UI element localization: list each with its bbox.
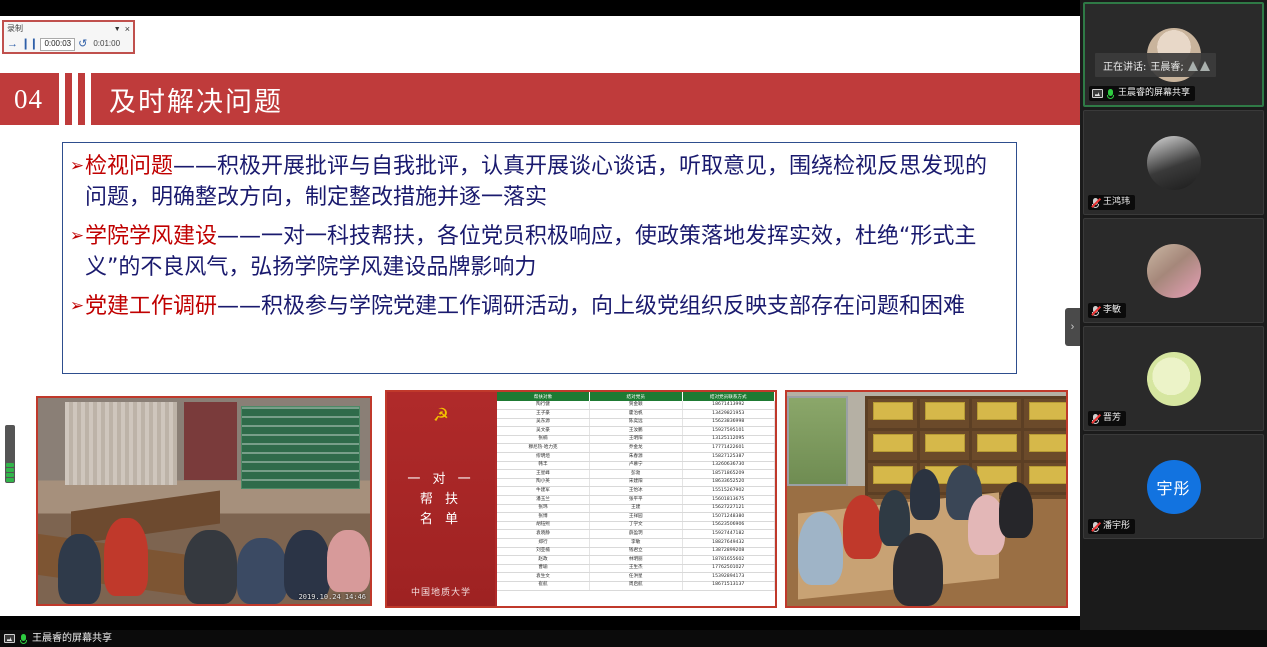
bullet-text: 检视问题——积极开展批评与自我批评，认真开展谈心谈话，听取意见，围绕检视反思发现… — [85, 151, 1006, 213]
table-row: 缪明煊朱春源15827125387 — [497, 453, 775, 462]
table-cell: 王祥园 — [590, 513, 683, 522]
level-segment — [6, 443, 14, 447]
table-cell: 穆尼热·哈力克 — [497, 444, 590, 453]
recording-total-time: 0:01:00 — [90, 39, 123, 50]
screen-share-status-text: 王晨睿的屏幕共享 — [32, 630, 112, 647]
mic-muted-icon — [1091, 413, 1100, 425]
bullet-keyword: 学院学风建设 — [85, 224, 217, 249]
avatar — [1147, 136, 1201, 190]
photo-timestamp: 2019.10.24 14:46 — [299, 593, 366, 601]
level-segment — [6, 463, 14, 467]
active-speaker-name: 王晨睿; — [1150, 58, 1183, 73]
level-segment — [6, 448, 14, 452]
participant-rail: 王晨睿的屏幕共享王鸿玮李敏晋芳宇彤潘宇彤 — [1080, 0, 1267, 630]
level-segment — [6, 458, 14, 462]
table-cell: 曹瑜 — [497, 564, 590, 573]
level-segment — [6, 433, 14, 437]
table-cell: 15927447182 — [682, 530, 775, 539]
pairing-list-title: 一 对 一 帮 扶 名 单 — [387, 470, 495, 530]
mic-muted-icon — [1091, 305, 1100, 317]
collapse-panel-button[interactable]: › — [1065, 308, 1080, 346]
close-icon[interactable]: × — [125, 24, 130, 34]
table-cell: 王建 — [590, 504, 683, 513]
table-row: 张博王祥园15071248380 — [497, 513, 775, 522]
table-cell: 彭勃 — [590, 470, 683, 479]
photo-person — [104, 518, 147, 596]
classroom-meeting-photo: 2019.10.24 14:46 — [36, 396, 372, 606]
level-segment — [6, 478, 14, 482]
bullet-arrow-icon: ➢ — [69, 151, 85, 213]
bullet-text: 学院学风建设——一对一科技帮扶，各位党员积极响应，使政策落地发挥实效，杜绝“形式… — [85, 221, 1006, 283]
participant-name: 晋芳 — [1103, 412, 1121, 425]
table-header-cell: 结对党员联系方式 — [682, 392, 775, 401]
table-cell: 张平平 — [590, 496, 683, 505]
photo-person — [237, 538, 287, 604]
table-cell: 朱春源 — [590, 453, 683, 462]
mic-muted-icon — [1091, 521, 1100, 533]
table-cell: 15071248380 — [682, 513, 775, 522]
resume-arrow-icon[interactable]: → — [7, 39, 18, 50]
table-row: 郑行李敏18827649432 — [497, 539, 775, 548]
recording-toolbar-controls: → ❙❙ 0:00:03 ↺ 0:01:00 — [4, 36, 133, 53]
photo-file-box — [977, 466, 1017, 484]
mic-on-icon — [1106, 88, 1115, 100]
pairing-list-banner: ☭ 一 对 一 帮 扶 名 单 中国地质大学 — [387, 392, 495, 606]
table-cell: 15623836998 — [682, 418, 775, 427]
bullet-keyword: 党建工作调研 — [85, 294, 217, 319]
table-row: 吴文豪王汝鹏15927595101 — [497, 427, 775, 436]
pairing-title-line: 帮 扶 — [387, 490, 495, 510]
table-cell: 林明丽 — [590, 556, 683, 565]
table-body: 陶行健贺金颖18671413992王子豪霍治帆13429821953吴东源陈奕远… — [497, 401, 775, 590]
photo-person — [284, 530, 330, 600]
photo-person — [999, 482, 1032, 538]
participant-label: 李敏 — [1088, 303, 1126, 318]
party-emblem-icon: ☭ — [433, 406, 449, 424]
table-cell: 15623506906 — [682, 521, 775, 530]
table-cell: 贺金颖 — [590, 401, 683, 410]
table-cell: 17762501027 — [682, 564, 775, 573]
table-cell: 15392894173 — [682, 573, 775, 582]
slide-header-band: 04 及时解决问题 — [0, 73, 1080, 125]
slide-number: 04 — [0, 84, 59, 115]
photo-window — [787, 396, 848, 486]
bullet-body: ——积极参与学院党建工作调研活动，向上级党组织反映支部存在问题和困难 — [217, 294, 965, 319]
avatar — [1147, 352, 1201, 406]
bullet-arrow-icon: ➢ — [69, 221, 85, 283]
recording-toolbar-title: 录制 — [7, 22, 23, 36]
table-cell: 18827649432 — [682, 539, 775, 548]
photo-person — [910, 469, 941, 520]
table-cell: 王怡冰 — [590, 487, 683, 496]
table-row: 张楠王明阳13125112095 — [497, 435, 775, 444]
table-cell: 18781655602 — [682, 556, 775, 565]
table-cell: 任洪星 — [590, 573, 683, 582]
table-cell: 15601813675 — [682, 496, 775, 505]
table-cell: 13872899208 — [682, 547, 775, 556]
pairing-list-content: ☭ 一 对 一 帮 扶 名 单 中国地质大学 — [387, 392, 775, 606]
level-segment — [6, 468, 14, 472]
table-row: 王星峰彭勃18571865209 — [497, 470, 775, 479]
table-cell: 宋建阳 — [590, 478, 683, 487]
photo-file-box — [977, 434, 1017, 452]
table-cell: 牛建军 — [497, 487, 590, 496]
slide-photo-row: 2019.10.24 14:46 ☭ 一 对 一 帮 扶 名 单 中国地质大学 — [0, 386, 1080, 608]
photo-file-box — [1029, 402, 1068, 420]
table-cell: 胡钰熙 — [497, 521, 590, 530]
level-segment — [6, 473, 14, 477]
screen-share-icon — [1092, 89, 1103, 98]
participant-tile[interactable]: 王鸿玮 — [1083, 110, 1264, 215]
slide-bullet-box: ➢ 检视问题——积极开展批评与自我批评，认真开展谈心谈话，听取意见，围绕检视反思… — [62, 142, 1017, 374]
participant-name: 潘宇彤 — [1103, 520, 1130, 533]
bullet-body: ——一对一科技帮扶，各位党员积极响应，使政策落地发挥实效，杜绝“形式主义”的不良… — [85, 224, 976, 280]
bullet-keyword: 检视问题 — [85, 154, 173, 179]
participant-label: 王晨睿的屏幕共享 — [1089, 86, 1195, 101]
header-stripe-1 — [59, 73, 65, 125]
pairing-title-line: 一 对 一 — [387, 470, 495, 490]
photo-file-box — [1029, 434, 1068, 452]
table-row: 袁生文任洪星15392894173 — [497, 573, 775, 582]
table-cell: 陶行健 — [497, 401, 590, 410]
table-cell: 陶小英 — [497, 478, 590, 487]
table-cell: 王汝鹏 — [590, 427, 683, 436]
mic-level-meter — [5, 425, 15, 483]
table-cell: 13125112095 — [682, 435, 775, 444]
audio-wave-icon — [1188, 59, 1210, 71]
participant-tile[interactable]: 李敏 — [1083, 218, 1264, 323]
table-cell: 李敏 — [590, 539, 683, 548]
photo-file-box — [925, 434, 965, 452]
table-cell: 钱君立 — [590, 547, 683, 556]
office-meeting-photo — [785, 390, 1068, 608]
table-row: 赵政林明丽18781655602 — [497, 556, 775, 565]
photo-wall — [184, 402, 237, 480]
table-row: 胡钰熙丁学文15623506906 — [497, 521, 775, 530]
photo-person — [58, 534, 101, 604]
participant-tile[interactable]: 晋芳 — [1083, 326, 1264, 431]
table-cell: 吴文豪 — [497, 427, 590, 436]
active-speaker-tooltip: 正在讲话: 王晨睿; — [1095, 53, 1216, 77]
participant-tile[interactable]: 宇彤潘宇彤 — [1083, 434, 1264, 539]
table-cell: 霍治帆 — [590, 410, 683, 419]
table-cell: 15827125387 — [682, 453, 775, 462]
mic-muted-icon — [1091, 197, 1100, 209]
table-cell: 15927595101 — [682, 427, 775, 436]
bullet-body: ——积极开展批评与自我批评，认真开展谈心谈话，听取意见，围绕检视反思发现的问题，… — [85, 154, 987, 210]
table-cell: 吴东源 — [497, 418, 590, 427]
recording-toolbar[interactable]: 录制 ▼ × → ❙❙ 0:00:03 ↺ 0:01:00 — [2, 20, 135, 54]
table-cell: 18671413992 — [682, 401, 775, 410]
level-segment — [6, 453, 14, 457]
table-row: 刘亚楠钱君立13872899208 — [497, 547, 775, 556]
avatar — [1147, 244, 1201, 298]
participant-label: 潘宇彤 — [1088, 519, 1135, 534]
header-stripe-2 — [72, 73, 78, 125]
table-cell: 王子豪 — [497, 410, 590, 419]
photo-person — [798, 512, 843, 585]
header-stripe-3 — [85, 73, 91, 125]
table-cell: 17771422601 — [682, 444, 775, 453]
mic-on-icon — [19, 633, 28, 645]
shared-screen-area: 04 及时解决问题 ➢ 检视问题——积极开展批评与自我批评，认真开展谈心谈话，听… — [0, 0, 1080, 630]
participant-name: 王鸿玮 — [1103, 196, 1130, 209]
table-cell: 袁生文 — [497, 573, 590, 582]
participant-label: 王鸿玮 — [1088, 195, 1135, 210]
university-name: 中国地质大学 — [387, 585, 495, 598]
participant-name: 李敏 — [1103, 304, 1121, 317]
table-row: 牛建军王怡冰15515267902 — [497, 487, 775, 496]
photo-file-box — [873, 434, 913, 452]
photo-file-box — [873, 466, 913, 484]
table-cell: 18571865209 — [682, 470, 775, 479]
table-cell: 陈奕远 — [590, 418, 683, 427]
table-row: 穆尼热·哈力克乔金龙17771422601 — [497, 444, 775, 453]
table-row: 王子豪霍治帆13429821953 — [497, 410, 775, 419]
table-header-cell: 帮扶对象 — [497, 392, 590, 401]
office-photo-content — [787, 392, 1066, 606]
screen-share-icon — [4, 634, 15, 643]
table-cell: 袁晓静 — [497, 530, 590, 539]
table-cell: 缪明煊 — [497, 453, 590, 462]
pairing-list-image: ☭ 一 对 一 帮 扶 名 单 中国地质大学 — [385, 390, 777, 608]
table-cell: 王生杰 — [590, 564, 683, 573]
table-cell: 薛盈玥 — [590, 530, 683, 539]
photo-person — [327, 530, 370, 592]
screen-share-status-bar: 王晨睿的屏幕共享 — [0, 630, 1267, 647]
table-row: 韩丰卢慕宁13260636730 — [497, 461, 775, 470]
chevron-down-icon[interactable]: ▼ — [114, 26, 121, 33]
participant-name: 王晨睿的屏幕共享 — [1118, 87, 1190, 100]
participant-label: 晋芳 — [1088, 411, 1126, 426]
chevron-right-icon: › — [1071, 321, 1075, 333]
table-cell: 15627227121 — [682, 504, 775, 513]
table-cell: 张玮 — [497, 504, 590, 513]
photo-projection-screen — [241, 406, 361, 488]
table-cell: 18671513137 — [682, 581, 775, 590]
table-cell: 张博 — [497, 513, 590, 522]
table-row: 潘玉兰张平平15601813675 — [497, 496, 775, 505]
bullet-item: ➢ 检视问题——积极开展批评与自我批评，认真开展谈心谈话，听取意见，围绕检视反思… — [69, 151, 1006, 213]
bullet-arrow-icon: ➢ — [69, 291, 85, 322]
bullet-item: ➢ 党建工作调研——积极参与学院党建工作调研活动，向上级党组织反映支部存在问题和… — [69, 291, 1006, 322]
table-cell: 卢慕宁 — [590, 461, 683, 470]
pairing-list-table: 帮扶对象 结对党员 结对党员联系方式 陶行健贺金颖18671413992王子豪霍… — [495, 392, 775, 606]
photo-file-box — [977, 402, 1017, 420]
photo-curtain — [65, 402, 178, 484]
table-header-row: 帮扶对象 结对党员 结对党员联系方式 — [497, 392, 775, 401]
table-header-cell: 结对党员 — [590, 392, 683, 401]
table-cell: 王星峰 — [497, 470, 590, 479]
table-cell: 周启航 — [590, 581, 683, 590]
slide-title: 及时解决问题 — [109, 80, 283, 119]
presentation-slide: 04 及时解决问题 ➢ 检视问题——积极开展批评与自我批评，认真开展谈心谈话，听… — [0, 16, 1080, 616]
table-row: 吴东源陈奕远15623836998 — [497, 418, 775, 427]
table-cell: 15515267902 — [682, 487, 775, 496]
pairing-title-line: 名 单 — [387, 510, 495, 530]
pause-icon[interactable]: ❙❙ — [21, 39, 37, 50]
table-cell: 王明阳 — [590, 435, 683, 444]
table-row: 崔航周启航18671513137 — [497, 581, 775, 590]
bullet-item: ➢ 学院学风建设——一对一科技帮扶，各位党员积极响应，使政策落地发挥实效，杜绝“… — [69, 221, 1006, 283]
table-row: 陶行健贺金颖18671413992 — [497, 401, 775, 410]
undo-arrow-icon[interactable]: ↺ — [78, 39, 87, 50]
table-cell: 13429821953 — [682, 410, 775, 419]
table-row: 袁晓静薛盈玥15927447182 — [497, 530, 775, 539]
level-segment — [6, 438, 14, 442]
table-cell: 乔金龙 — [590, 444, 683, 453]
table-cell: 刘亚楠 — [497, 547, 590, 556]
photo-person — [893, 533, 943, 606]
table-row: 张玮王建15627227121 — [497, 504, 775, 513]
avatar: 宇彤 — [1147, 460, 1201, 514]
bullet-text: 党建工作调研——积极参与学院党建工作调研活动，向上级党组织反映支部存在问题和困难 — [85, 291, 1006, 322]
table-cell: 郑行 — [497, 539, 590, 548]
recording-elapsed-time: 0:00:03 — [40, 38, 75, 51]
recording-toolbar-titlebar: 录制 ▼ × — [4, 22, 133, 36]
table-row: 曹瑜王生杰17762501027 — [497, 564, 775, 573]
table-cell: 崔航 — [497, 581, 590, 590]
table-cell: 赵政 — [497, 556, 590, 565]
table-cell: 张楠 — [497, 435, 590, 444]
classroom-photo-content — [38, 398, 370, 604]
table-cell: 丁学文 — [590, 521, 683, 530]
photo-person — [843, 495, 882, 559]
photo-file-box — [873, 402, 913, 420]
meeting-screen-share-window: 04 及时解决问题 ➢ 检视问题——积极开展批评与自我批评，认真开展谈心谈话，听… — [0, 0, 1267, 647]
table-cell: 潘玉兰 — [497, 496, 590, 505]
table-row: 陶小英宋建阳18633652520 — [497, 478, 775, 487]
table-cell: 18633652520 — [682, 478, 775, 487]
table-cell: 13260636730 — [682, 461, 775, 470]
active-speaker-prefix: 正在讲话: — [1103, 58, 1146, 73]
photo-file-box — [925, 402, 965, 420]
photo-person — [184, 530, 237, 604]
photo-file-box — [1029, 466, 1068, 484]
table-cell: 韩丰 — [497, 461, 590, 470]
